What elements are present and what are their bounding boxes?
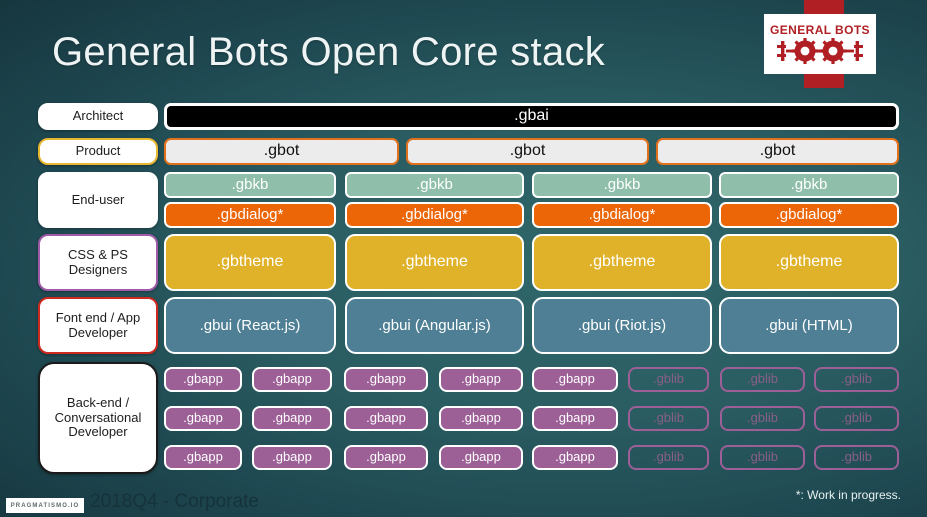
footer-caption: 2018Q4 - Corporate bbox=[90, 491, 259, 513]
module-gbapp-r2c4[interactable]: .gbapp bbox=[439, 406, 523, 431]
layer-gbui-riot[interactable]: .gbui (Riot.js) bbox=[532, 297, 712, 354]
role-label-architect: Architect bbox=[38, 103, 158, 130]
layer-gbot-1[interactable]: .gbot bbox=[164, 138, 399, 165]
layer-gbui-html[interactable]: .gbui (HTML) bbox=[719, 297, 899, 354]
general-bots-logo: GENERAL BOTS bbox=[764, 14, 876, 74]
pragmatismo-logo-text: PRAGMATISMO.IO bbox=[11, 503, 80, 509]
layer-gbtheme-3[interactable]: .gbtheme bbox=[532, 234, 712, 291]
layer-gbtheme-2[interactable]: .gbtheme bbox=[345, 234, 524, 291]
role-label-css-ps-designers: CSS & PS Designers bbox=[38, 234, 158, 291]
module-gbapp-r1c1[interactable]: .gbapp bbox=[164, 367, 242, 392]
module-gblib-r3c6[interactable]: .gblib bbox=[628, 445, 709, 470]
module-gblib-r2c7[interactable]: .gblib bbox=[720, 406, 805, 431]
module-gblib-r1c6[interactable]: .gblib bbox=[628, 367, 709, 392]
module-gblib-r1c7[interactable]: .gblib bbox=[720, 367, 805, 392]
module-gblib-r3c7[interactable]: .gblib bbox=[720, 445, 805, 470]
module-gblib-r2c8[interactable]: .gblib bbox=[814, 406, 899, 431]
layer-gbdialog-1[interactable]: .gbdialog* bbox=[164, 202, 336, 228]
footnote-work-in-progress: *: Work in progress. bbox=[796, 488, 901, 502]
layer-gbkb-3[interactable]: .gbkb bbox=[532, 172, 712, 198]
layer-gbkb-1[interactable]: .gbkb bbox=[164, 172, 336, 198]
layer-gbui-angular[interactable]: .gbui (Angular.js) bbox=[345, 297, 524, 354]
module-gbapp-r2c1[interactable]: .gbapp bbox=[164, 406, 242, 431]
layer-gbot-3[interactable]: .gbot bbox=[656, 138, 899, 165]
layer-gbdialog-3[interactable]: .gbdialog* bbox=[532, 202, 712, 228]
layer-gbai[interactable]: .gbai bbox=[164, 103, 899, 130]
layer-gbot-2[interactable]: .gbot bbox=[406, 138, 649, 165]
role-label-front-end-app-developer: Font end / App Developer bbox=[38, 297, 158, 354]
page-title: General Bots Open Core stack bbox=[52, 30, 605, 75]
module-gbapp-r3c4[interactable]: .gbapp bbox=[439, 445, 523, 470]
module-gblib-r3c8[interactable]: .gblib bbox=[814, 445, 899, 470]
layer-gbkb-4[interactable]: .gbkb bbox=[719, 172, 899, 198]
layer-gbdialog-4[interactable]: .gbdialog* bbox=[719, 202, 899, 228]
gears-logo-icon bbox=[777, 38, 863, 64]
role-label-product: Product bbox=[38, 138, 158, 165]
module-gbapp-r1c3[interactable]: .gbapp bbox=[344, 367, 428, 392]
module-gbapp-r1c5[interactable]: .gbapp bbox=[532, 367, 618, 392]
module-gbapp-r2c3[interactable]: .gbapp bbox=[344, 406, 428, 431]
layer-gbui-react[interactable]: .gbui (React.js) bbox=[164, 297, 336, 354]
module-gblib-r1c8[interactable]: .gblib bbox=[814, 367, 899, 392]
role-label-end-user: End-user bbox=[38, 172, 158, 228]
role-label-back-end-conversational-developer: Back-end / Conversational Developer bbox=[38, 362, 158, 474]
logo-wordmark: GENERAL BOTS bbox=[770, 24, 870, 36]
layer-gbdialog-2[interactable]: .gbdialog* bbox=[345, 202, 524, 228]
slide-canvas: GENERAL BOTS bbox=[0, 0, 927, 517]
module-gbapp-r3c1[interactable]: .gbapp bbox=[164, 445, 242, 470]
module-gblib-r2c6[interactable]: .gblib bbox=[628, 406, 709, 431]
layer-gbtheme-4[interactable]: .gbtheme bbox=[719, 234, 899, 291]
module-gbapp-r3c5[interactable]: .gbapp bbox=[532, 445, 618, 470]
module-gbapp-r3c3[interactable]: .gbapp bbox=[344, 445, 428, 470]
layer-gbkb-2[interactable]: .gbkb bbox=[345, 172, 524, 198]
module-gbapp-r3c2[interactable]: .gbapp bbox=[252, 445, 332, 470]
pragmatismo-logo: PRAGMATISMO.IO bbox=[6, 498, 84, 513]
layer-gbtheme-1[interactable]: .gbtheme bbox=[164, 234, 336, 291]
module-gbapp-r1c4[interactable]: .gbapp bbox=[439, 367, 523, 392]
module-gbapp-r2c2[interactable]: .gbapp bbox=[252, 406, 332, 431]
module-gbapp-r2c5[interactable]: .gbapp bbox=[532, 406, 618, 431]
module-gbapp-r1c2[interactable]: .gbapp bbox=[252, 367, 332, 392]
